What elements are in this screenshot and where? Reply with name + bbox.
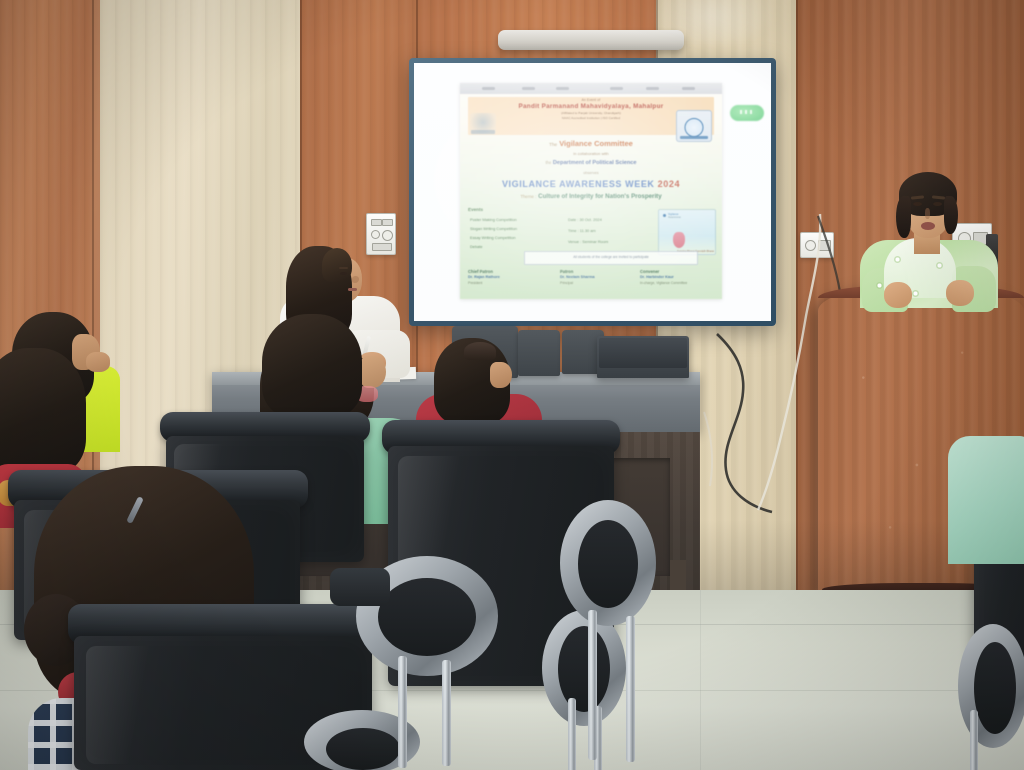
audience-person (940, 436, 1024, 576)
audience-hair-clip (464, 342, 496, 360)
faculty-mouth (348, 288, 357, 291)
audience-hair (262, 314, 362, 418)
audience-torso (948, 436, 1024, 564)
seminar-hall-photo: An Event of Pandit Parmanand Mahavidyala… (0, 0, 1024, 770)
audience-hair (0, 348, 86, 474)
faculty-hair-front (322, 248, 352, 282)
audience-cheek (490, 362, 512, 388)
faculty-eyebrow (339, 267, 348, 269)
seminar-chair[interactable] (560, 500, 670, 770)
seminar-chair[interactable] (330, 556, 510, 770)
faculty-eye (340, 272, 347, 275)
